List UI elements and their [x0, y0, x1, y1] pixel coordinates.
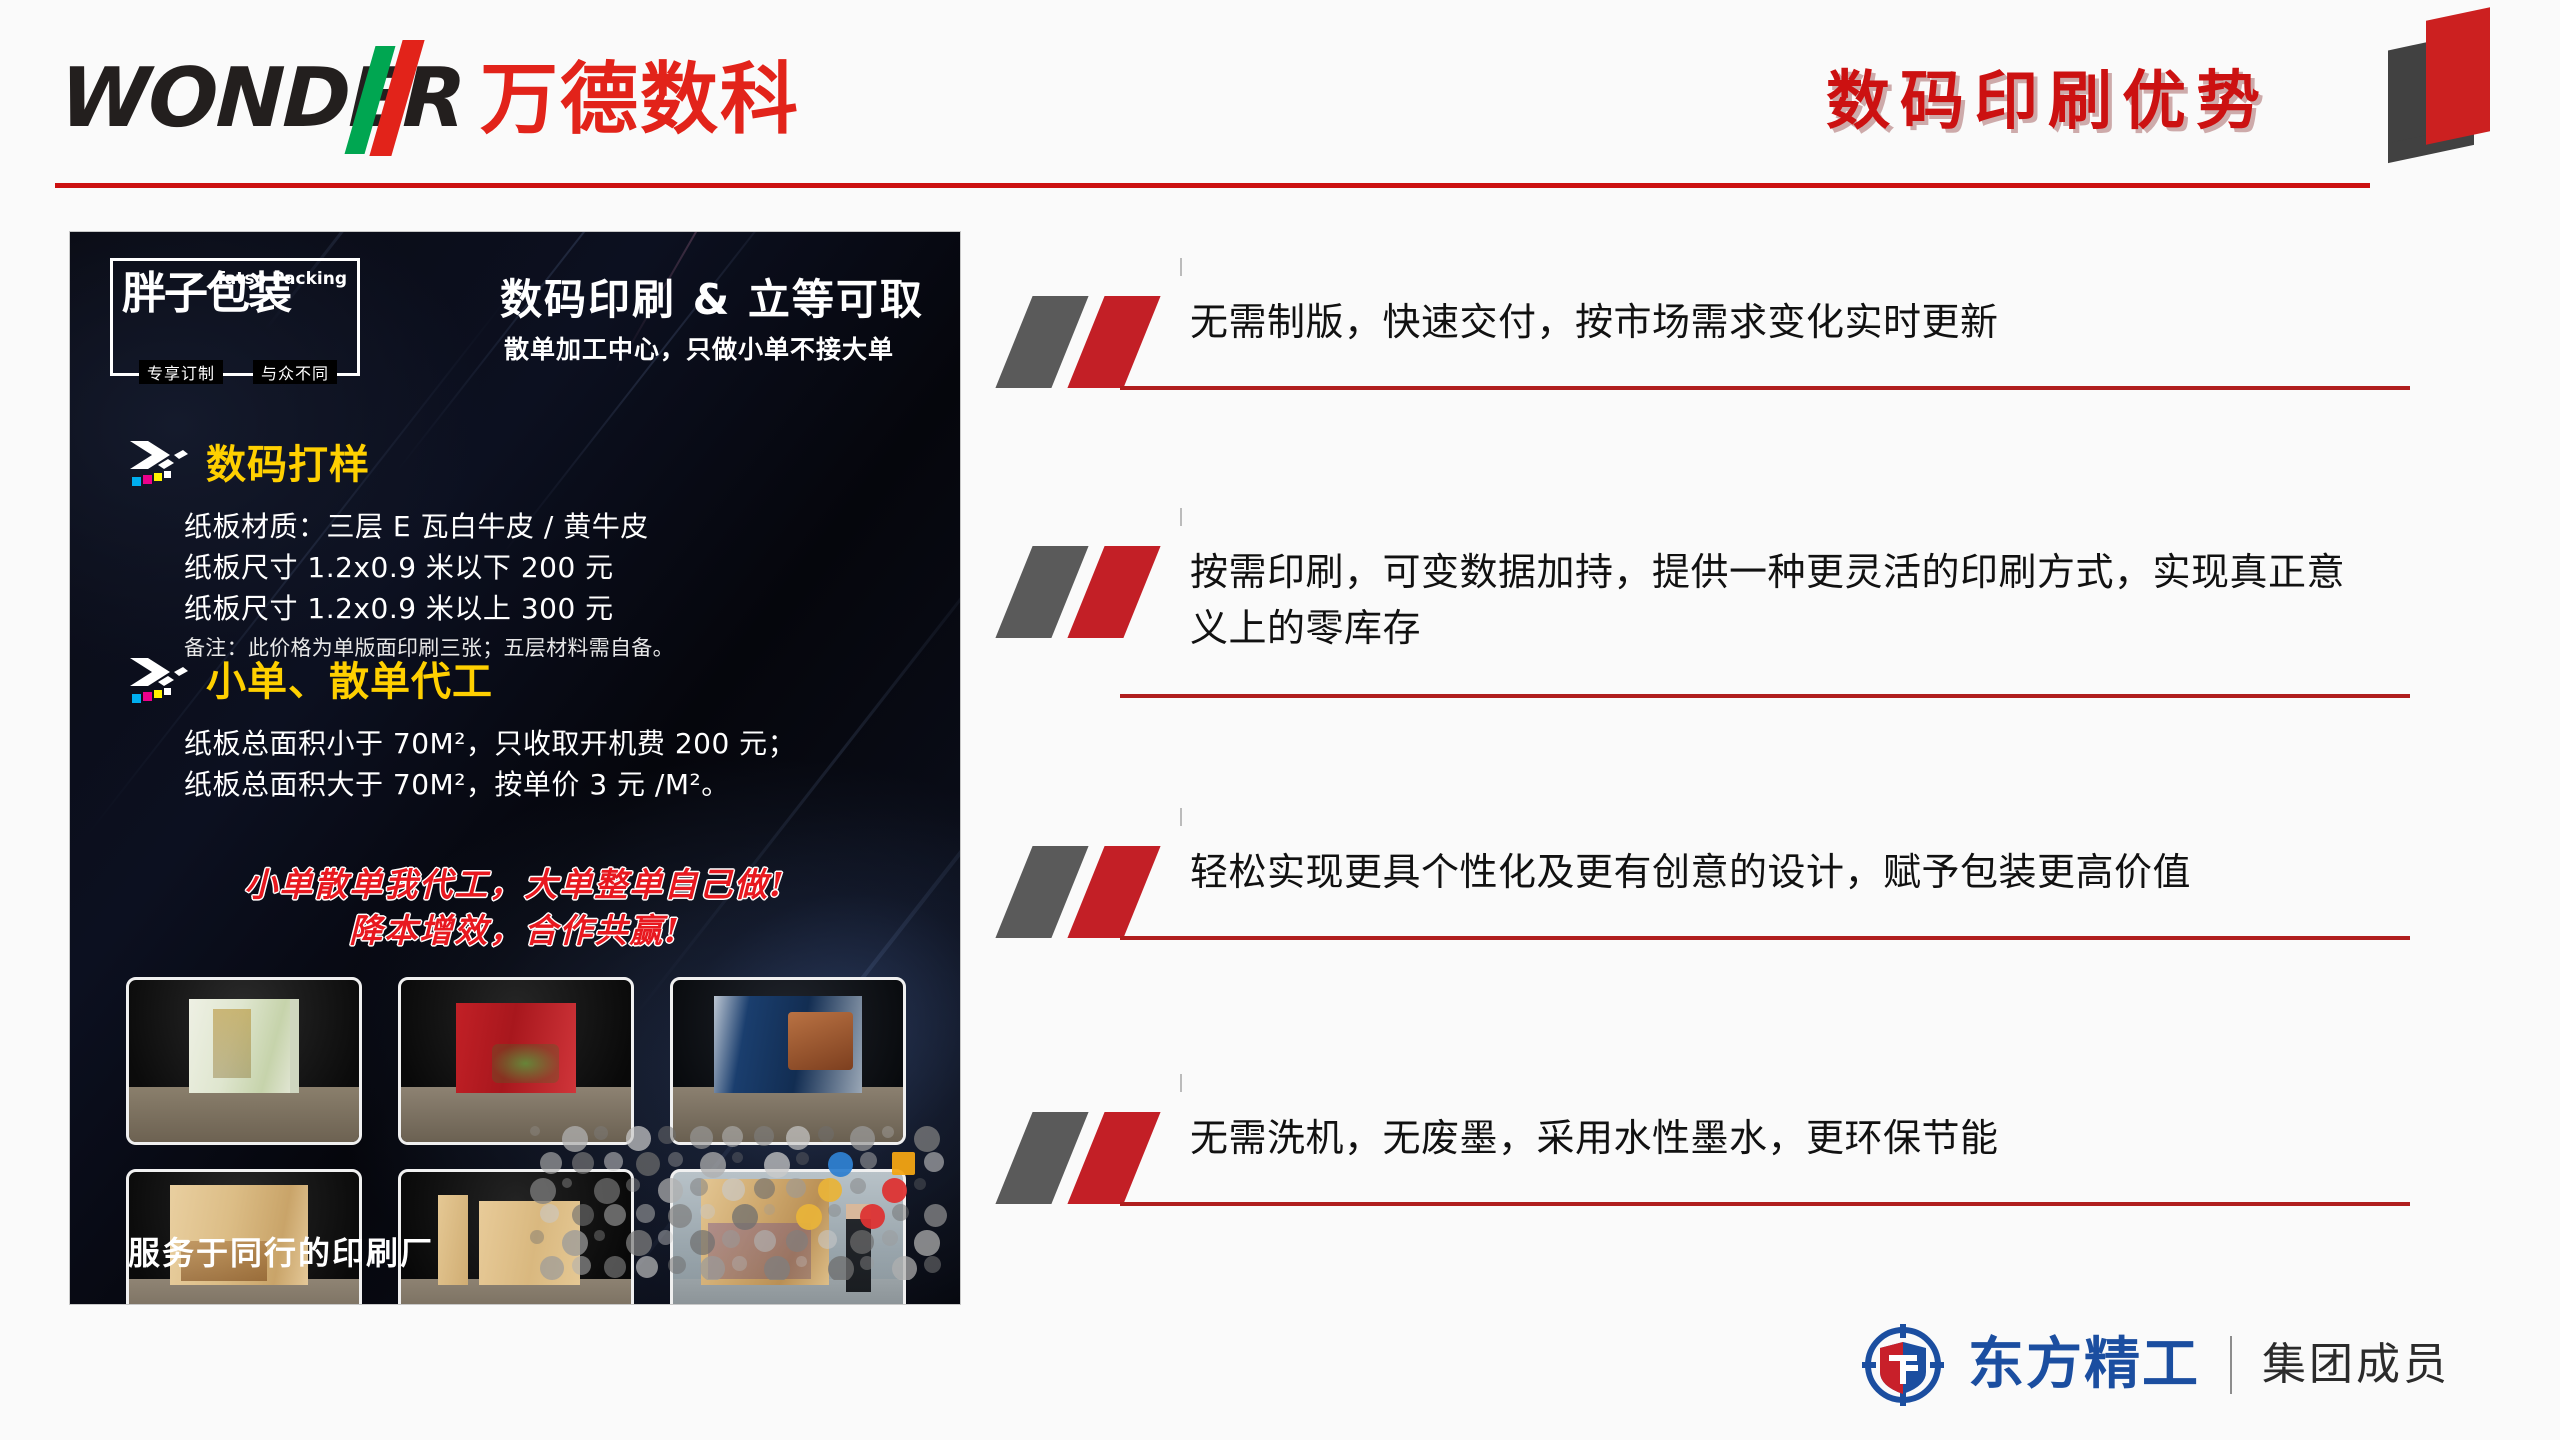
poster-section-body: 纸板总面积小于 70M²，只收取开机费 200 元； 纸板总面积大于 70M²，… — [184, 724, 796, 806]
poster-section-title: 数码打样 — [206, 445, 370, 485]
advantage-text: 无需制版，快速交付，按市场需求变化实时更新 — [1190, 294, 2370, 350]
header-divider — [55, 183, 2370, 188]
photo-floor — [129, 1087, 359, 1142]
poster-section-proofing: 数码打样 纸板材质：三层 E 瓦白牛皮 / 黄牛皮 纸板尺寸 1.2x0.9 米… — [128, 437, 674, 664]
fatso-packing-logo: 胖子包装 fatso Packing 专享订制 与众不同 — [110, 258, 360, 376]
advantage-text: 按需印刷，可变数据加持，提供一种更灵活的印刷方式，实现真正意义上的零库存 — [1190, 544, 2370, 656]
bullet-tick — [1180, 258, 1182, 276]
poster-section-line: 纸板尺寸 1.2x0.9 米以上 300 元 — [184, 589, 674, 630]
product-photo — [126, 977, 362, 1145]
product-box-shape-small — [438, 1195, 468, 1286]
poster-slogan: 小单散单我代工，大单整单自己做! 降本增效，合作共赢! — [70, 862, 960, 953]
slide-header: WONDER 万德数科 数码印刷优势 — [0, 0, 2560, 200]
poster-header-band: 胖子包装 fatso Packing 专享订制 与众不同 数码印刷 & 立等可取… — [70, 248, 960, 386]
poster-headline: 数码印刷 & 立等可取 — [500, 266, 924, 327]
poster-section-line: 纸板总面积小于 70M²，只收取开机费 200 元； — [184, 724, 796, 765]
brand-wordmark-cn: 万德数科 — [480, 61, 800, 139]
poster-section-body: 纸板材质：三层 E 瓦白牛皮 / 黄牛皮 纸板尺寸 1.2x0.9 米以下 20… — [184, 507, 674, 664]
promo-poster-image: 胖子包装 fatso Packing 专享订制 与众不同 数码印刷 & 立等可取… — [70, 232, 960, 1304]
fatso-tagline-right: 与众不同 — [253, 360, 337, 384]
product-photo — [670, 977, 906, 1145]
group-member-logo: 东方精工 集团成员 — [1860, 1322, 2450, 1408]
advantage-underline — [1120, 1202, 2410, 1206]
product-box-shape — [479, 1201, 580, 1285]
product-photo — [398, 977, 634, 1145]
photo-floor — [673, 1087, 903, 1142]
page-title: 数码印刷优势 — [1826, 50, 2270, 142]
bullet-tick — [1180, 808, 1182, 826]
poster-section-small-orders: 小单、散单代工 纸板总面积小于 70M²，只收取开机费 200 元； 纸板总面积… — [128, 654, 796, 806]
footer-separator — [2230, 1336, 2232, 1394]
bullet-marker-icon — [1000, 296, 1180, 388]
fatso-tagline-left: 专享订制 — [139, 360, 223, 384]
bullet-tick — [1180, 1074, 1182, 1092]
advantage-underline — [1120, 936, 2410, 940]
poster-slogan-line-1: 小单散单我代工，大单整单自己做! — [70, 862, 960, 908]
poster-section-heading: 数码打样 — [128, 437, 674, 493]
group-member-label: 集团成员 — [2262, 1343, 2450, 1387]
product-photo — [670, 1169, 906, 1304]
photo-floor — [401, 1087, 631, 1142]
person-silhouette — [846, 1204, 871, 1291]
product-box-shape — [189, 999, 299, 1093]
bullet-marker-icon — [1000, 1112, 1180, 1204]
advantage-text: 无需洗机，无废墨，采用水性墨水，更环保节能 — [1190, 1110, 2370, 1166]
bullet-tick — [1180, 508, 1182, 526]
chevron-cmyk-icon — [128, 654, 192, 710]
product-box-shape — [714, 996, 861, 1093]
advantage-underline — [1120, 694, 2410, 698]
wonder-brand-logo: WONDER 万德数科 — [60, 58, 800, 154]
poster-section-line: 纸板尺寸 1.2x0.9 米以下 200 元 — [184, 548, 674, 589]
poster-section-line: 纸板材质：三层 E 瓦白牛皮 / 黄牛皮 — [184, 507, 674, 548]
corner-decoration-icon — [2382, 8, 2502, 158]
corner-gray-shape — [2388, 42, 2430, 151]
advantage-text: 轻松实现更具个性化及更有创意的设计，赋予包装更高价值 — [1190, 844, 2370, 900]
fatso-logo-cn-1: 胖子 — [122, 268, 206, 319]
company-name: 东方精工 — [1968, 1337, 2200, 1393]
bullet-marker-icon — [1000, 846, 1180, 938]
dongfang-jingong-emblem-icon — [1860, 1322, 1946, 1408]
fatso-logo-en: fatso Packing — [217, 269, 347, 289]
bullet-marker-icon — [1000, 546, 1180, 638]
poster-slogan-line-2: 降本增效，合作共赢! — [70, 908, 960, 954]
product-box-shape — [456, 1003, 576, 1094]
fatso-taglines: 专享订制 与众不同 — [113, 360, 363, 384]
chevron-cmyk-icon — [128, 437, 192, 493]
poster-section-title: 小单、散单代工 — [206, 662, 493, 702]
poster-footer-text: 服务于同行的印刷厂 — [128, 1228, 434, 1274]
poster-section-line: 纸板总面积大于 70M²，按单价 3 元 /M²。 — [184, 765, 796, 806]
poster-section-heading: 小单、散单代工 — [128, 654, 796, 710]
poster-subheadline: 散单加工中心，只做小单不接大单 — [504, 330, 894, 366]
product-box-shape — [701, 1179, 830, 1286]
corner-red-shape — [2426, 7, 2490, 145]
advantage-underline — [1120, 386, 2410, 390]
